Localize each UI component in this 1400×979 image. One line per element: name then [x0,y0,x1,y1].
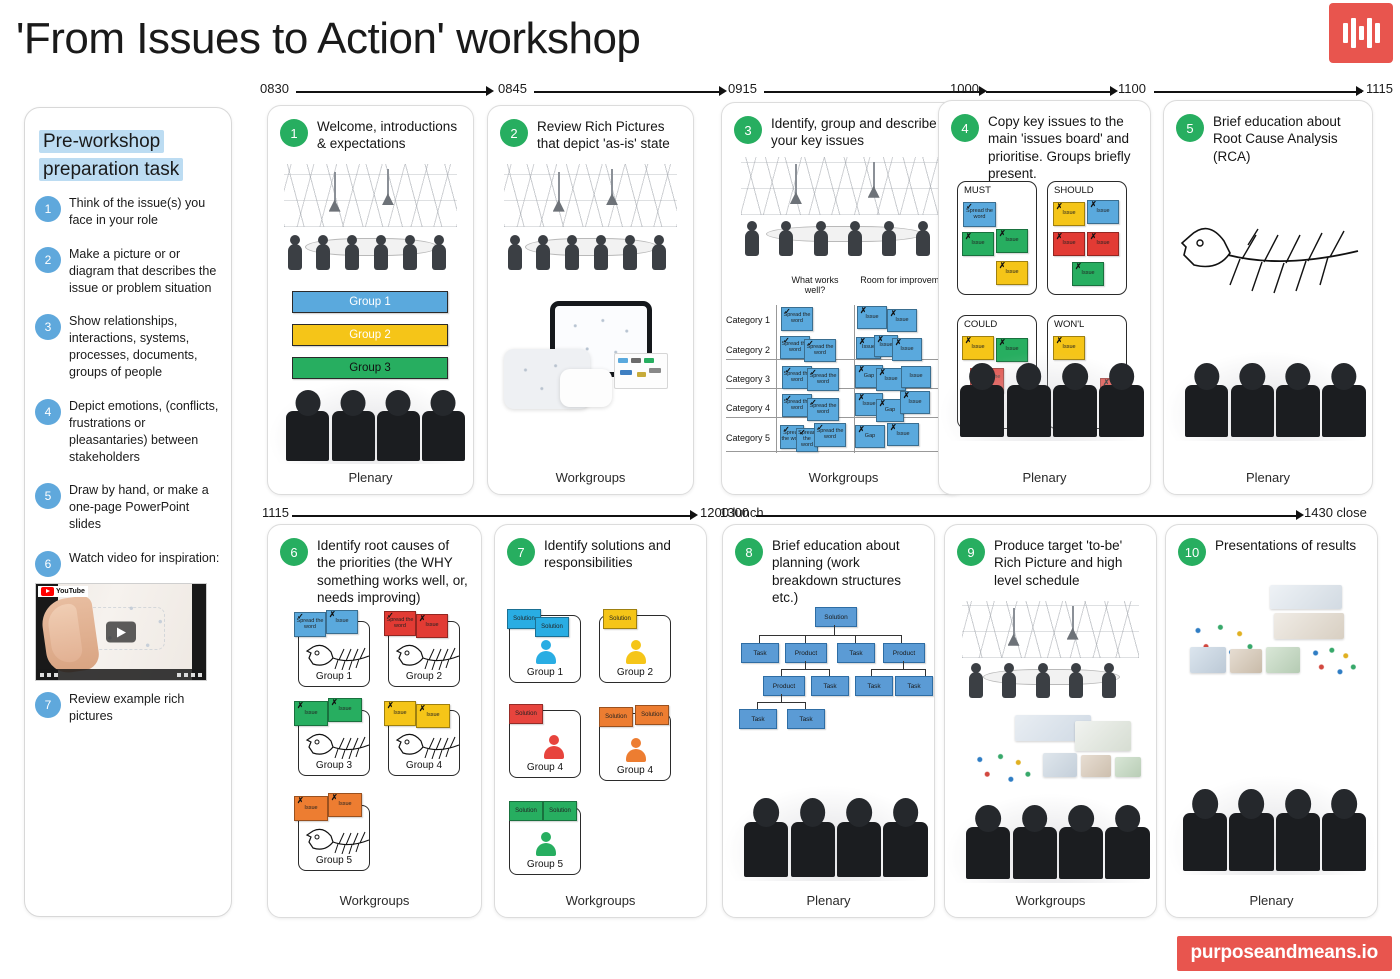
sticky-note: Solution [535,617,569,637]
timeline-segment [1154,91,1362,93]
wbs-node-root: Solution [815,607,857,627]
group-label: Group 5 [299,855,369,866]
card-1-audience-photo [268,378,473,464]
video-settings-controls[interactable] [177,673,202,677]
matrix-row-label-1: Category 1 [726,315,770,325]
group-label: Group 4 [510,762,580,773]
card-mode-label: Workgroups [722,470,965,485]
card-mode-label: Plenary [939,470,1150,485]
list-item: 4 Depict emotions, (conflicts, frustrati… [35,398,221,466]
results-collage [1178,585,1366,705]
fishbone-icon [395,731,469,761]
sticky-note: ✗Issue [294,701,328,726]
agenda-card-6[interactable]: 6 Identify root causes of the priorities… [267,524,482,918]
agenda-card-5[interactable]: 5 Brief education about Root Cause Analy… [1163,100,1373,495]
meeting-attendees [280,229,460,270]
video-transport-controls[interactable] [40,673,58,677]
list-item-label: Draw by hand, or make a one-page PowerPo… [69,482,221,533]
card-header: 6 Identify root causes of the priorities… [268,525,481,610]
sticky-note: ✗Issue [294,796,328,821]
list-item: 2 Make a picture or or diagram that desc… [35,246,221,297]
sticky-note: ✗Issue [416,614,448,638]
wbs-node-l2-2: Task [855,676,893,696]
sticky-note: ✗Issue [887,423,919,446]
timeline-arrow-icon [690,510,698,520]
card-8-audience-photo [723,785,934,881]
meeting-room-sketch-icon [268,162,473,282]
card-1-group-legend: Group 1 Group 2 Group 3 [292,291,448,379]
list-item: 5 Draw by hand, or make a one-page Power… [35,482,221,533]
matrix-row-label-3: Category 3 [726,374,770,384]
timeline-arrow-icon [486,86,494,96]
card-number: 7 [507,538,535,566]
lamp-icon [387,169,389,195]
fishbone-icon [395,642,469,672]
fishbone-icon [305,642,379,672]
pre-workshop-title: Pre-workshop preparation task [39,128,217,183]
moscow-quadrant-must: MUST ✓Spread the word ✗Issue ✗Issue ✗Iss… [957,181,1037,295]
ceiling-grid [504,164,676,226]
card-title: Copy key issues to the main 'issues boar… [988,113,1140,182]
list-item-label: Depict emotions, (conflicts, frustration… [69,398,221,466]
agenda-card-7[interactable]: 7 Identify solutions and responsibilitie… [494,524,707,918]
person-icon [626,738,646,762]
agenda-card-2[interactable]: 2 Review Rich Pictures that depict 'as-i… [487,105,694,495]
sticky-note: ✗Gap [855,425,885,448]
group-label: Group 5 [510,859,580,870]
card-title: Identify, group and describe your key is… [771,115,955,150]
card-9-room-sketch [945,599,1156,709]
sticky-note: ✗Issue [996,261,1028,285]
card-3-room-sketch [722,155,965,267]
timeline-segment [534,91,719,93]
card-header: 2 Review Rich Pictures that depict 'as-i… [488,106,693,157]
timeline-mark-1115: 1115 [1366,81,1393,96]
card-title: Identify root causes of the priorities (… [317,537,471,606]
card-number: 8 [735,538,763,566]
video-letterbox-right [192,584,206,680]
work-breakdown-structure: Solution Task Product Task Product Produ… [737,607,923,752]
lamp-icon [334,172,336,202]
list-item: 7 Review example rich pictures [35,691,221,725]
sticky-note: ✓Spread the word [814,423,846,447]
video-controls-bar[interactable] [36,669,206,680]
sticky-note: ✓Spread the word [384,611,416,636]
agenda-card-10[interactable]: 10 Presentations of results Plenary [1165,524,1378,918]
sticky-note: ✗Issue [900,391,930,414]
card-number: 1 [280,119,308,147]
card-title: Produce target 'to-be' Rich Picture and … [994,537,1146,589]
workshop-agenda-poster: 'From Issues to Action' workshop Pre-wor… [0,0,1400,979]
card-number: 2 [500,119,528,147]
matrix-row-label-5: Category 5 [726,433,770,443]
lamp-icon [795,164,797,194]
card-title: Brief education about Root Cause Analysi… [1213,113,1362,165]
sticky-note: ✗Issue [996,229,1028,253]
card-mode-label: Workgroups [268,893,481,908]
card-header: 7 Identify solutions and responsibilitie… [495,525,706,576]
card-header: 9 Produce target 'to-be' Rich Picture an… [945,525,1156,593]
group-label: Group 1 [510,667,580,678]
lamp-icon [873,162,875,188]
meeting-room-sketch-icon [488,162,693,282]
person-icon [536,832,556,856]
ceiling-grid [962,601,1139,658]
sticky-note: ✗Issue [887,309,917,332]
quadrant-title: WON'L [1054,319,1084,330]
card-10-audience-photo [1166,775,1377,875]
sticky-note: ✗Issue [1087,200,1119,224]
sticky-note: ✓Spread the word [804,339,836,362]
list-item-number: 5 [35,483,61,509]
timeline-arrow-icon [1110,86,1118,96]
timeline-mark-1115: 1115 [262,505,289,520]
wbs-node-l1-1: Product [785,643,827,663]
card-mode-label: Plenary [268,470,473,485]
card-4-audience-photo [939,351,1150,441]
footer-brand-badge[interactable]: purposeandmeans.io [1177,936,1393,971]
card-mode-label: Workgroups [945,893,1156,908]
quadrant-title: MUST [964,185,991,196]
meeting-attendees [500,229,680,270]
group-chip-1: Group 1 [292,291,448,313]
timeline-mark-0845: 0845 [498,81,527,96]
list-item: 1 Think of the issue(s) you face in your… [35,195,221,229]
timeline-arrow-icon [1356,86,1364,96]
play-icon[interactable] [106,622,136,643]
youtube-play-icon [41,587,54,596]
wbs-node-l2-1: Task [811,676,849,696]
card-mode-label: Workgroups [495,893,706,908]
rich-picture-collage [957,715,1145,795]
card-number: 4 [951,114,979,142]
meeting-room-sketch-icon [722,155,965,267]
audience-icon [1164,351,1372,441]
list-item-label: Make a picture or or diagram that descri… [69,246,221,297]
moscow-quadrant-should: SHOULD ✗Issue ✗Issue ✗Issue ✗Issue ✗Issu… [1047,181,1127,295]
card-number: 5 [1176,114,1204,142]
sticky-note: Issue [901,366,931,388]
card-number: 9 [957,538,985,566]
matrix-row-label-4: Category 4 [726,403,770,413]
wbs-node-l1-0: Task [741,643,779,663]
audience-icon [723,785,934,881]
wbs-node-l1-3: Product [883,643,925,663]
digital-board-thumbnail [614,353,668,389]
ceiling-grid [741,157,945,215]
agenda-card-3[interactable]: 3 Identify, group and describe your key … [721,102,966,495]
sticky-note: Solution [543,801,577,821]
card-header: 3 Identify, group and describe your key … [722,103,965,154]
fishbone-svg [1178,211,1363,301]
pre-workshop-task-list: 1 Think of the issue(s) you face in your… [35,195,221,577]
pre-workshop-title-line2: preparation task [39,158,183,181]
list-item-number: 2 [35,247,61,273]
person-icon [626,640,646,664]
sticky-note: ✗Issue [328,698,362,722]
sticky-note: ✗Issue [1087,232,1119,256]
ceiling-grid [284,164,456,226]
sticky-note: ✓Spread the word [807,398,839,421]
list-item-number: 1 [35,196,61,222]
group-label: Group 2 [600,667,670,678]
quadrant-title: SHOULD [1054,185,1094,196]
card-header: 5 Brief education about Root Cause Analy… [1164,101,1372,169]
audience-icon [268,378,473,464]
list-item-label: Show relationships, interactions, system… [69,313,221,381]
lamp-icon [1072,606,1074,630]
card-5-audience-photo [1164,351,1372,441]
timeline-mark-1430: 1430 close [1304,505,1367,520]
card-number: 3 [734,116,762,144]
sticky-note: ✗Issue [1053,232,1085,256]
card-title: Brief education about planning (work bre… [772,537,924,606]
audience-icon [939,351,1150,441]
meeting-attendees [737,218,951,256]
timeline-mark-0830: 0830 [260,81,289,96]
timeline-mark-0915: 0915 [728,81,757,96]
issues-matrix: What works well? Room for improvement Ca… [724,273,963,463]
timeline-segment [296,91,486,93]
timeline-arrow-icon [1296,510,1304,520]
group-label: Group 4 [389,760,459,771]
card-mode-label: Plenary [1164,470,1372,485]
lamp-icon [1013,608,1015,636]
matrix-column-header-1: What works well? [780,275,850,296]
card-2-room-sketch [488,162,693,282]
sticky-note: ✗Issue [328,793,362,817]
timeline-mark-1000: 1000 [950,81,979,96]
youtube-logo-icon: YouTube [38,586,88,597]
agenda-card-1[interactable]: 1 Welcome, introductions & expectations … [267,105,474,495]
timeline-segment [986,91,1110,93]
sticky-note: ✓Spread the word [963,202,996,227]
card-9-audience-photo [945,793,1156,883]
audience-icon [1166,775,1377,875]
sticky-note: ✗Issue [416,704,450,728]
card-title: Identify solutions and responsibilities [544,537,696,572]
sticky-note: ✓Spread the word [781,307,813,331]
list-item: 6 Watch video for inspiration: [35,550,221,577]
card-number: 10 [1178,538,1206,566]
wbs-node-l2-3: Task [895,676,933,696]
agenda-card-8[interactable]: 8 Brief education about planning (work b… [722,524,935,918]
sticky-note: ✓Spread the word [294,612,326,637]
pre-workshop-task-list-continued: 7 Review example rich pictures [35,691,221,725]
fishbone-icon [305,731,379,761]
timeline-mark-1100: 1100 [1118,81,1146,96]
card-header: 8 Brief education about planning (work b… [723,525,934,610]
list-item-label: Review example rich pictures [69,691,221,725]
card-number: 6 [280,538,308,566]
sticky-note: Solution [635,705,669,725]
group-chip-2: Group 2 [292,324,448,346]
sticky-note: Solution [509,801,543,821]
sticky-note: ✗Issue [1072,262,1104,286]
sticky-note: ✗Issue [857,306,887,329]
sticky-note: Solution [603,609,637,629]
group-label: Group 3 [299,760,369,771]
list-item-number: 3 [35,314,61,340]
wbs-node-l1-2: Task [837,643,875,663]
card-title: Welcome, introductions & expectations [317,118,463,153]
quadrant-title: COULD [964,319,997,330]
sticky-note: Solution [599,707,633,727]
timeline-arrow-icon [719,86,727,96]
group-label: Group 1 [299,671,369,682]
sticky-note: Solution [509,704,543,724]
person-icon [544,735,564,759]
sticky-note: ✗Issue [384,701,416,726]
card-mode-label: Plenary [1166,893,1377,908]
card-2-rich-picture-collage [488,301,693,456]
fishbone-icon [305,826,379,856]
card-mode-label: Workgroups [488,470,693,485]
meeting-room-sketch-icon [945,599,1156,709]
card-header: 1 Welcome, introductions & expectations [268,106,473,157]
matrix-row-label-2: Category 2 [726,345,770,355]
card-title: Review Rich Pictures that depict 'as-is'… [537,118,683,153]
group-label: Group 4 [600,765,670,776]
card-mode-label: Plenary [723,893,934,908]
person-icon [536,640,556,664]
list-item-label: Think of the issue(s) you face in your r… [69,195,221,229]
timeline-mark-1300: 1300 [720,505,749,520]
audience-icon [945,793,1156,883]
lamp-icon [558,172,560,202]
hand-drawn-rich-picture [560,369,612,407]
list-item-number: 6 [35,551,61,577]
card-1-room-sketch [268,162,473,282]
sticky-note: ✓Spread the word [807,368,839,391]
sticky-note: ✗Issue [326,610,358,634]
fishbone-diagram-icon [1178,211,1363,301]
pre-workshop-title-line1: Pre-workshop [39,130,164,153]
card-title: Presentations of results [1215,537,1356,554]
sticky-note: ✗Issue [962,232,994,256]
card-header: 10 Presentations of results [1166,525,1377,570]
youtube-wordmark: YouTube [56,588,85,595]
group-chip-3: Group 3 [292,357,448,379]
inspiration-video-thumbnail[interactable]: YouTube [35,583,207,681]
group-label: Group 2 [389,671,459,682]
timeline-segment [764,91,979,93]
meeting-attendees [958,661,1144,698]
pre-workshop-panel: Pre-workshop preparation task 1 Think of… [24,107,232,917]
list-item-number: 4 [35,399,61,425]
wbs-node-l2-0: Product [763,676,805,696]
audio-bars-logo-icon [1329,3,1393,63]
list-item-label: Watch video for inspiration: [69,550,219,567]
page-title: 'From Issues to Action' workshop [16,14,640,64]
agenda-card-4[interactable]: 4 Copy key issues to the main 'issues bo… [938,100,1151,495]
card-header: 4 Copy key issues to the main 'issues bo… [939,101,1150,186]
wbs-node-l3-0: Task [739,709,777,729]
list-item: 3 Show relationships, interactions, syst… [35,313,221,381]
sticky-note: ✗Issue [892,338,922,361]
sticky-note: ✗Issue [1053,202,1085,226]
agenda-card-9[interactable]: 9 Produce target 'to-be' Rich Picture an… [944,524,1157,918]
lamp-icon [611,169,613,195]
list-item-number: 7 [35,692,61,718]
wbs-node-l3-1: Task [787,709,825,729]
